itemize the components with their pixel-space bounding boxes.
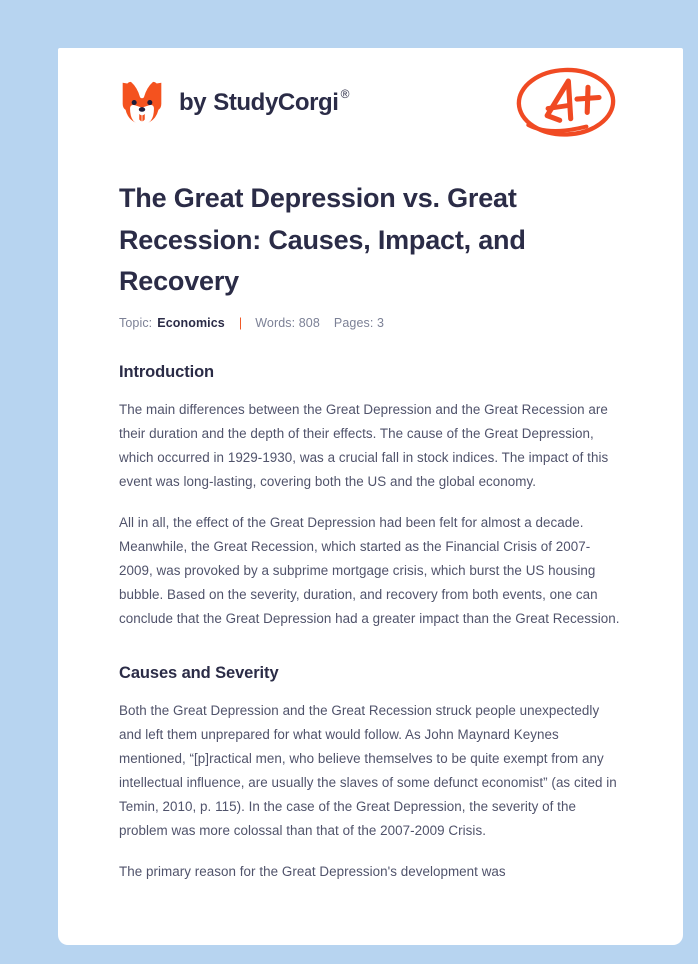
brand-by-text: by xyxy=(179,91,206,115)
registered-trademark-icon: ® xyxy=(341,88,349,100)
paragraph: The primary reason for the Great Depress… xyxy=(119,860,622,884)
topic-link[interactable]: Economics xyxy=(157,316,225,330)
topic-label: Topic: xyxy=(119,316,152,330)
brand-name: StudyCorgi xyxy=(213,91,338,115)
section-heading-introduction: Introduction xyxy=(119,363,622,382)
meta-separator: | xyxy=(239,316,242,330)
studycorgi-brand[interactable]: by StudyCorgi ® xyxy=(119,80,347,126)
word-count: Words: 808 xyxy=(255,316,320,330)
section-heading-causes-and-severity: Causes and Severity xyxy=(119,664,622,683)
document-meta: Topic: Economics | Words: 808 Pages: 3 xyxy=(119,316,622,330)
page-title: The Great Depression vs. Great Recession… xyxy=(119,178,622,303)
paragraph: All in all, the effect of the Great Depr… xyxy=(119,511,622,631)
brand-wordmark: by StudyCorgi ® xyxy=(179,91,347,115)
document-header: by StudyCorgi ® xyxy=(58,48,683,158)
a-plus-grade-icon xyxy=(511,63,621,143)
paragraph: The main differences between the Great D… xyxy=(119,398,622,494)
page-count: Pages: 3 xyxy=(334,316,384,330)
corgi-head-icon xyxy=(119,80,165,126)
document-body: The Great Depression vs. Great Recession… xyxy=(58,178,683,884)
paragraph: Both the Great Depression and the Great … xyxy=(119,699,622,843)
essay-page-card: by StudyCorgi ® The Great Depression vs.… xyxy=(58,48,683,945)
